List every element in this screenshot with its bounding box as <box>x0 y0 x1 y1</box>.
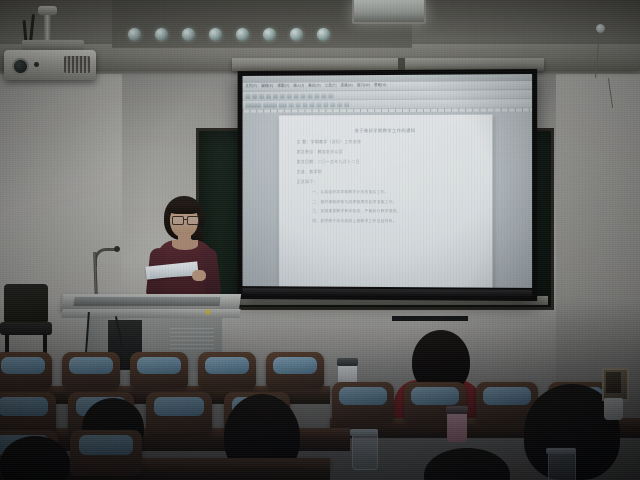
new-doc-icon[interactable] <box>245 93 250 98</box>
cut-icon[interactable] <box>287 93 292 98</box>
chair <box>198 352 256 388</box>
eyeglasses-right-lens-icon <box>187 216 199 225</box>
white-thermos-cap <box>337 358 358 366</box>
side-chair-backrest <box>4 284 48 324</box>
spellcheck-icon[interactable] <box>280 93 285 98</box>
number-list-icon[interactable] <box>337 102 342 107</box>
document-list-item: 二、做好课程考核与成绩管理的各项准备工作。 <box>312 201 474 205</box>
bold-icon[interactable] <box>289 102 294 107</box>
document-line: 发文单位：教务处办公室 <box>297 151 475 155</box>
lectern-power-led-icon <box>206 310 210 314</box>
projector-vent <box>64 56 90 73</box>
chair <box>332 382 394 422</box>
chair <box>0 352 52 388</box>
recessed-ceiling-light <box>352 0 426 24</box>
word-processor-window[interactable]: 文件(F) 编辑(E) 视图(V) 插入(I) 格式(O) 工具(T) 表格(A… <box>243 74 533 288</box>
table-icon[interactable] <box>321 93 326 98</box>
document-list-item: 一、认真组织本学期教学计划的落实工作。 <box>312 191 474 195</box>
screen-surface: 文件(F) 编辑(E) 视图(V) 插入(I) 格式(O) 工具(T) 表格(A… <box>243 74 533 288</box>
menu-item-help[interactable]: 帮助(H) <box>374 84 386 87</box>
italic-icon[interactable] <box>296 102 301 107</box>
ceiling-light-fixtures <box>128 28 338 42</box>
style-dropdown[interactable] <box>245 102 261 107</box>
text-color-icon[interactable] <box>344 102 349 107</box>
document-page[interactable]: 关于做好学期教学工作的通知 主 题：学期教学（试行）工作安排 发文单位：教务处办… <box>279 115 493 288</box>
open-icon[interactable] <box>252 93 257 98</box>
menu-item-file[interactable]: 文件(F) <box>245 85 257 88</box>
microphone-head-icon <box>114 246 120 252</box>
chair <box>266 352 324 388</box>
projection-screen: 文件(F) 编辑(E) 视图(V) 插入(I) 格式(O) 工具(T) 表格(A… <box>238 69 538 301</box>
glass-water-jar <box>548 452 576 480</box>
projector-mount-cap <box>38 6 57 15</box>
screen-bottom-bar <box>243 288 533 297</box>
align-center-icon[interactable] <box>316 102 321 107</box>
ceiling-fixture-right <box>596 24 605 33</box>
menu-item-insert[interactable]: 插入(I) <box>293 85 304 88</box>
glass-jar-lid <box>350 429 378 436</box>
right-hand <box>192 270 206 281</box>
document-line: 主 题：学期教学（试行）工作安排 <box>297 141 475 145</box>
align-left-icon[interactable] <box>309 102 314 107</box>
pink-thermos-cap <box>446 406 468 414</box>
menu-item-format[interactable]: 格式(O) <box>308 85 321 88</box>
menu-item-table[interactable]: 表格(A) <box>341 85 353 88</box>
save-icon[interactable] <box>259 93 264 98</box>
right-wall <box>556 70 640 400</box>
document-canvas[interactable]: 关于做好学期教学工作的通知 主 题：学期教学（试行）工作安排 发文单位：教务处办… <box>243 111 533 288</box>
projector-mount-pole <box>44 10 51 44</box>
redo-icon[interactable] <box>314 93 319 98</box>
paste-icon[interactable] <box>301 93 306 98</box>
menu-item-edit[interactable]: 编辑(E) <box>261 85 273 88</box>
classroom-photo: 文件(F) 编辑(E) 视图(V) 插入(I) 格式(O) 工具(T) 表格(A… <box>0 0 640 480</box>
zoom-icon[interactable] <box>328 93 333 98</box>
document-title: 关于做好学期教学工作的通知 <box>297 129 475 134</box>
white-cup <box>604 398 623 420</box>
document-line: 发文日期：二〇一五年九月十二日 <box>297 161 475 165</box>
pink-thermos-bottle <box>447 412 467 442</box>
glass-water-jar <box>352 434 378 470</box>
framed-picture-image <box>606 372 621 393</box>
undo-icon[interactable] <box>308 93 313 98</box>
glass-jar-lid <box>546 448 576 454</box>
neckline <box>172 240 198 250</box>
hair-fringe <box>168 201 200 214</box>
chair <box>70 430 142 476</box>
eyeglasses-bridge-icon <box>183 219 187 220</box>
projector-lens-icon <box>12 58 29 75</box>
chair <box>146 392 212 434</box>
chair <box>0 392 56 434</box>
document-list-item: 三、加强课堂教学秩序检查，严格执行教学规范。 <box>312 210 474 214</box>
menu-item-tools[interactable]: 工具(T) <box>325 85 337 88</box>
preview-icon[interactable] <box>273 93 278 98</box>
underline-icon[interactable] <box>303 102 308 107</box>
bullet-list-icon[interactable] <box>330 102 335 107</box>
menu-item-view[interactable]: 视图(V) <box>277 85 289 88</box>
print-icon[interactable] <box>266 93 271 98</box>
lectern-control-panel[interactable] <box>73 297 220 306</box>
document-line: 正文如下： <box>297 181 475 185</box>
document-list-item: 四、各学院于本月底前上报教学工作总结材料。 <box>312 220 474 224</box>
lectern-vent <box>170 328 214 350</box>
wall-dark-strip <box>392 316 468 321</box>
align-right-icon[interactable] <box>323 102 328 107</box>
eyeglasses-left-lens-icon <box>172 216 184 225</box>
chair <box>130 352 188 388</box>
menu-item-window[interactable]: 窗口(W) <box>357 84 370 87</box>
chair <box>62 352 120 388</box>
copy-icon[interactable] <box>294 93 299 98</box>
font-dropdown[interactable] <box>263 102 277 107</box>
document-line: 主送：各学院 <box>297 171 475 175</box>
projector-led-icon <box>34 62 39 67</box>
font-size-dropdown[interactable] <box>279 102 287 107</box>
